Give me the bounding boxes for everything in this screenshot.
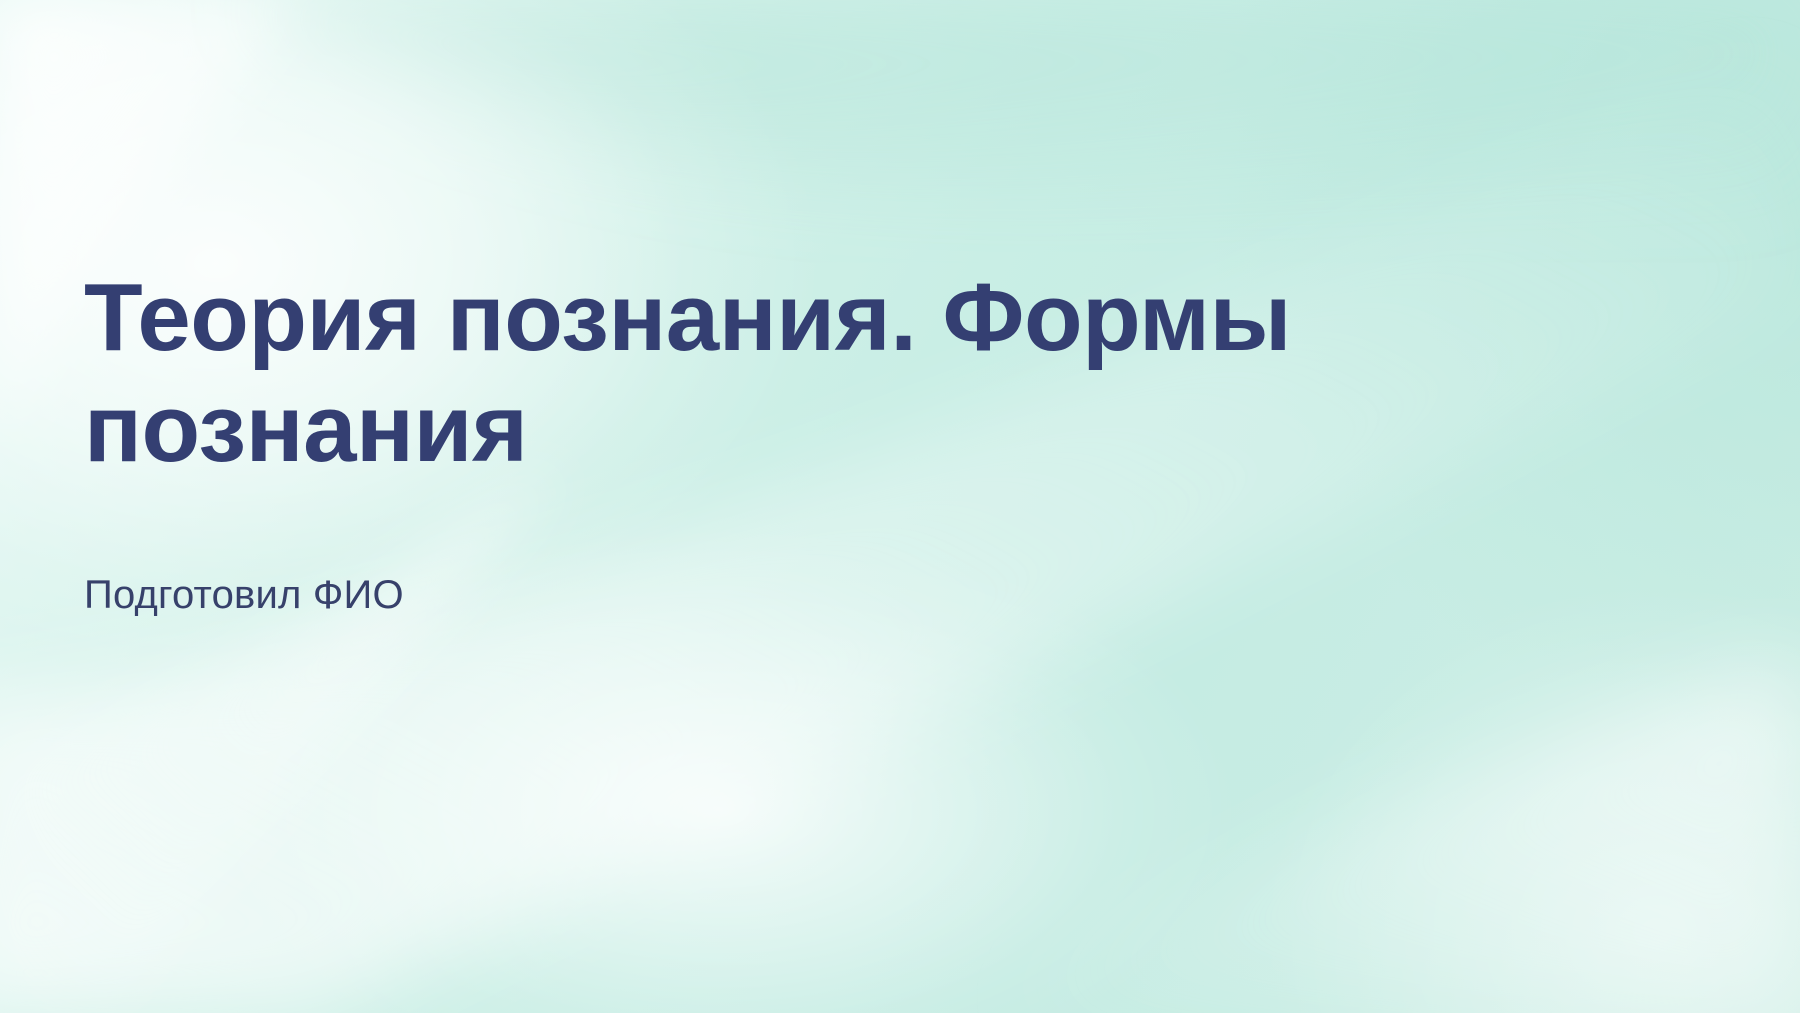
slide-title: Теория познания. Формы познания: [84, 262, 1704, 485]
slide-subtitle: Подготовил ФИО: [84, 485, 1724, 619]
presentation-title-slide: Теория познания. Формы познания Подготов…: [0, 0, 1800, 1013]
slide-content: Теория познания. Формы познания Подготов…: [84, 262, 1724, 619]
wave-band-bottom-right: [980, 660, 1800, 1013]
wave-band-top-right: [250, 0, 1800, 210]
